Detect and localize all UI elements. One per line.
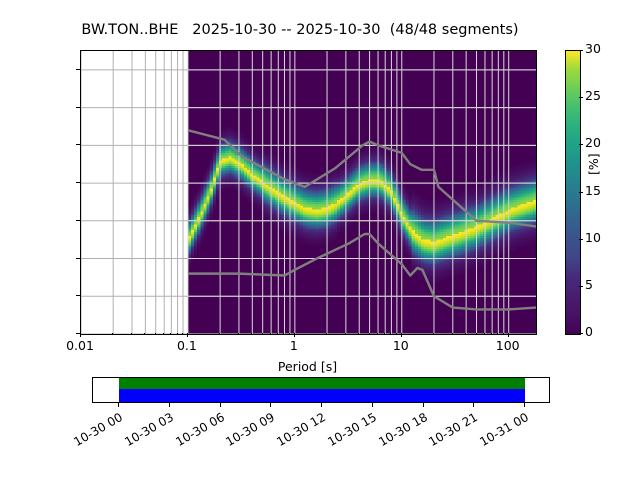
colorbar-tick-mark [579, 239, 583, 240]
timeline-tick-label: 10-30 12 [266, 410, 328, 454]
timeline-tick-mark [473, 402, 474, 407]
x-tick-label: 0.01 [66, 338, 94, 353]
x-tick-mark [491, 333, 492, 335]
timeline-tick-label: 10-30 03 [113, 410, 175, 454]
x-tick-mark [177, 333, 178, 335]
colorbar-tick-mark [579, 286, 583, 287]
x-tick-mark [144, 333, 145, 335]
x-tick-mark [452, 333, 453, 335]
x-tick-label: 0.1 [177, 338, 197, 353]
colorbar-tick-label: 0 [585, 324, 593, 339]
colorbar-tick-label: 20 [585, 135, 601, 150]
timeline-tick-label: 10-30 00 [63, 410, 125, 454]
colorbar-tick-mark [579, 97, 583, 98]
x-tick-mark [283, 333, 284, 335]
x-tick-mark [294, 333, 295, 337]
timeline-tick-label: 10-30 15 [316, 410, 378, 454]
y-tick-mark [76, 258, 80, 259]
x-tick-mark [80, 333, 81, 337]
colorbar-tick-mark [579, 333, 583, 334]
timeline-tick-mark [169, 402, 170, 407]
colorbar [565, 50, 581, 335]
colorbar-tick-mark [579, 192, 583, 193]
ppsd-figure: BW.TON..BHE 2025-10-30 -- 2025-10-30 (48… [0, 0, 640, 480]
x-tick-label: 10 [393, 338, 409, 353]
timeline-tick-mark [118, 402, 119, 407]
timeline-tick-mark [372, 402, 373, 407]
x-tick-mark [219, 333, 220, 335]
x-tick-mark [262, 333, 263, 335]
x-tick-mark [390, 333, 391, 335]
x-tick-label: 100 [496, 338, 520, 353]
x-tick-mark [384, 333, 385, 335]
colorbar-unit-label: [%] [586, 153, 601, 175]
timeline-tick-label: 10-31 00 [469, 410, 531, 454]
ppsd-density-plot [81, 51, 536, 334]
colorbar-tick-label: 25 [585, 88, 601, 103]
y-tick-mark [76, 69, 80, 70]
x-tick-mark [369, 333, 370, 335]
plot-title: BW.TON..BHE 2025-10-30 -- 2025-10-30 (48… [0, 22, 600, 38]
y-tick-mark [76, 182, 80, 183]
x-tick-mark [112, 333, 113, 335]
x-tick-mark [277, 333, 278, 335]
psd-segments-bar [119, 389, 525, 402]
x-tick-mark [396, 333, 397, 335]
x-tick-mark [465, 333, 466, 335]
colorbar-tick-mark [579, 50, 583, 51]
colorbar-tick-label: 30 [585, 41, 601, 56]
x-tick-mark [497, 333, 498, 335]
x-tick-mark [358, 333, 359, 335]
x-tick-mark [401, 333, 402, 337]
data-availability-bar [119, 378, 525, 389]
colorbar-tick-label: 15 [585, 183, 601, 198]
x-tick-mark [377, 333, 378, 335]
timeline-axes [92, 377, 550, 403]
timeline-tick-mark [524, 402, 525, 407]
timeline-tick-mark [270, 402, 271, 407]
x-tick-mark [476, 333, 477, 335]
colorbar-tick-label: 5 [585, 277, 593, 292]
x-tick-mark [270, 333, 271, 335]
timeline-tick-mark [220, 402, 221, 407]
timeline-tick-mark [321, 402, 322, 407]
y-tick-mark [76, 107, 80, 108]
x-tick-mark [433, 333, 434, 335]
x-tick-mark [503, 333, 504, 335]
x-tick-mark [187, 333, 188, 337]
x-axis-label: Period [s] [80, 359, 535, 374]
x-tick-mark [508, 333, 509, 337]
x-tick-mark [326, 333, 327, 335]
y-tick-mark [76, 220, 80, 221]
x-tick-mark [155, 333, 156, 335]
x-tick-label: 1 [290, 338, 298, 353]
x-tick-mark [170, 333, 171, 335]
timeline-tick-mark [423, 402, 424, 407]
colorbar-tick-label: 10 [585, 230, 601, 245]
x-tick-mark [131, 333, 132, 335]
y-tick-mark [76, 295, 80, 296]
x-tick-mark [251, 333, 252, 335]
x-tick-mark [163, 333, 164, 335]
x-tick-mark [345, 333, 346, 335]
x-tick-mark [238, 333, 239, 335]
x-tick-mark [182, 333, 183, 335]
ppsd-plot-area [80, 50, 537, 335]
x-tick-mark [484, 333, 485, 335]
x-tick-mark [289, 333, 290, 335]
y-tick-mark [76, 144, 80, 145]
colorbar-tick-mark [579, 144, 583, 145]
